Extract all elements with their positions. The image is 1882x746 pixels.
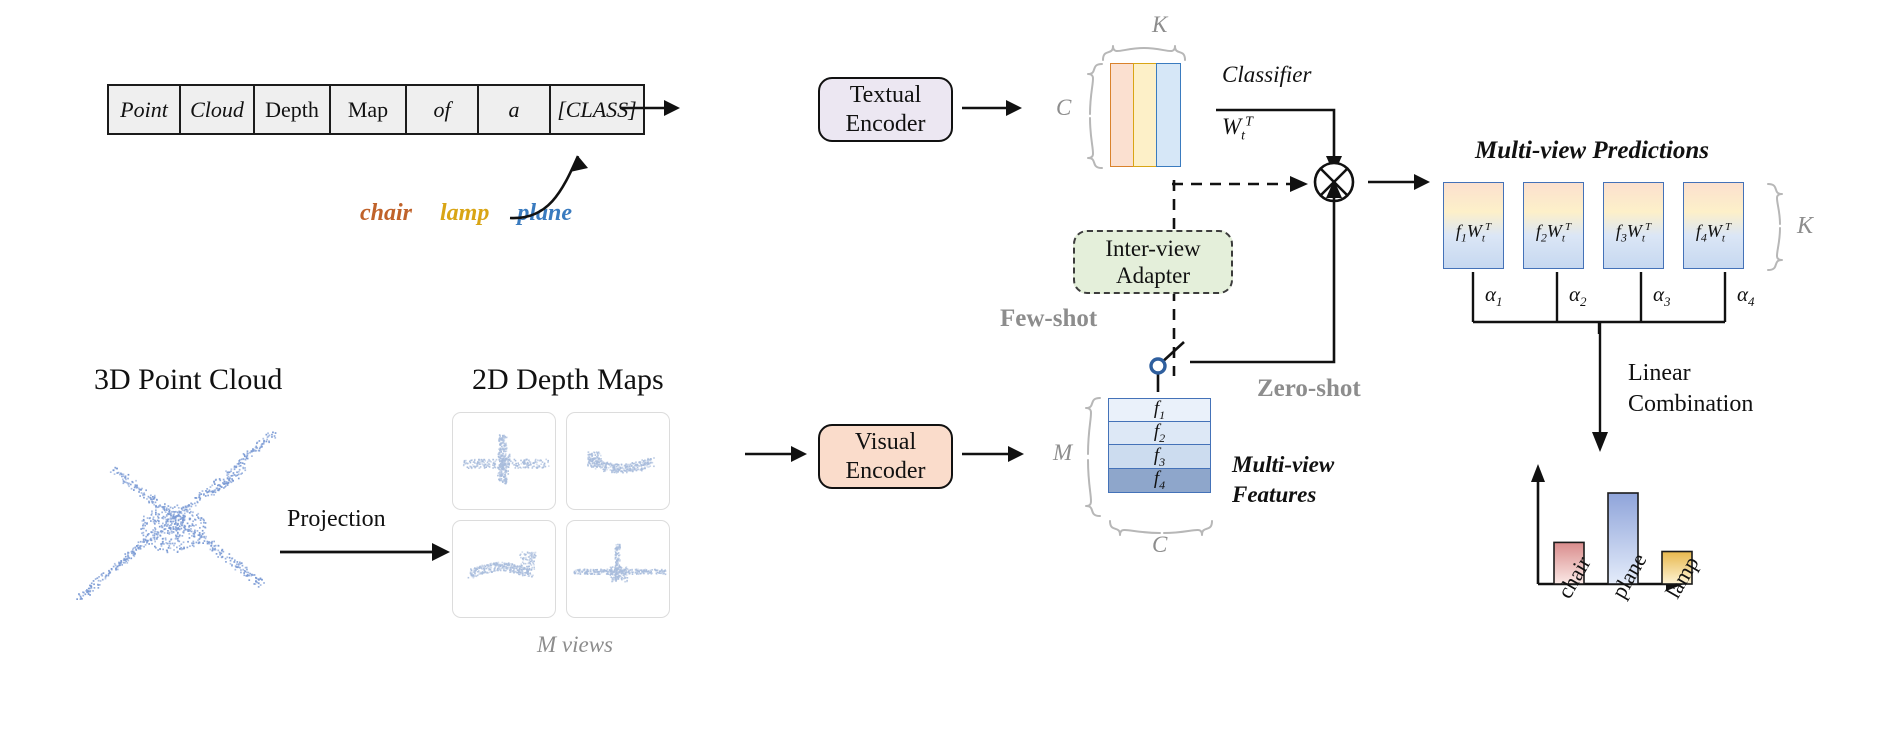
features-m-label: M: [1053, 440, 1072, 466]
classifier-weight-matrix: [1110, 63, 1181, 167]
multi-view-feature-stack: f1f2f3f4: [1108, 398, 1211, 493]
class-option-lamp[interactable]: lamp: [440, 200, 489, 227]
visual-encoder-box[interactable]: Visual Encoder: [818, 424, 953, 489]
adapter-line2: Adapter: [1105, 262, 1200, 289]
chart-x-tick-labels: chairplanelamp: [1510, 462, 1760, 622]
prompt-token-2[interactable]: Depth: [255, 86, 331, 133]
visual-encoder-line1: Visual: [846, 428, 926, 456]
classifier-column-1: [1133, 63, 1158, 167]
arrow-textual-encoder-to-classifier: [962, 96, 1022, 120]
prediction-box-3: f3WtT: [1603, 182, 1664, 269]
multi-view-prediction-boxes: f1WtTf2WtTf3WtTf4WtT: [1443, 182, 1744, 269]
multi-view-features-caption: Multi-view Features: [1232, 450, 1334, 510]
predictions-k-label: K: [1797, 213, 1813, 240]
arrow-linear-combination-to-chart: [1591, 322, 1611, 452]
classifier-c-label: C: [1056, 95, 1071, 121]
textual-encoder-line1: Textual: [846, 81, 926, 109]
class-to-token-curved-arrow: [500, 120, 630, 230]
arrow-projection: [280, 540, 450, 564]
alpha-weight-3: α3: [1653, 282, 1671, 310]
classifier-top-brace: [1101, 42, 1187, 62]
classifier-k-label: K: [1152, 12, 1167, 38]
alpha-weight-4: α4: [1737, 282, 1755, 310]
feature-bar-1: f1: [1108, 398, 1211, 423]
textual-encoder-box[interactable]: Textual Encoder: [818, 77, 953, 142]
adapter-line1: Inter-view: [1105, 235, 1200, 262]
classifier-column-2: [1156, 63, 1181, 167]
alpha-weight-1: α1: [1485, 282, 1503, 310]
visual-encoder-line2: Encoder: [846, 457, 926, 485]
predictions-right-brace: [1766, 182, 1788, 272]
depth-map-tile-side-view-left: [566, 412, 670, 510]
depth-map-tile-top-view: [452, 412, 556, 510]
linear-combination-line2: Combination: [1628, 389, 1753, 420]
feature-bar-3: f3: [1108, 444, 1211, 469]
classifier-title: Classifier: [1222, 62, 1311, 88]
alpha-weight-2: α2: [1569, 282, 1587, 310]
prediction-box-2: f2WtT: [1523, 182, 1584, 269]
class-option-chair[interactable]: chair: [360, 200, 412, 227]
depth-map-tile-side-view-right: [452, 520, 556, 618]
arrow-depthmaps-to-visual-encoder: [745, 442, 807, 466]
m-views-label: M views: [537, 632, 613, 658]
few-shot-label: Few-shot: [1000, 305, 1097, 333]
linear-combination-line1: Linear: [1628, 358, 1753, 389]
prediction-box-4: f4WtT: [1683, 182, 1744, 269]
arrow-operator-to-predictions: [1368, 170, 1430, 194]
depth-map-tile-front-view: [566, 520, 670, 618]
textual-encoder-line2: Encoder: [846, 110, 926, 138]
arrow-visual-encoder-to-features: [962, 442, 1024, 466]
prediction-box-1: f1WtT: [1443, 182, 1504, 269]
prompt-token-1[interactable]: Cloud: [181, 86, 255, 133]
mode-switch-icon[interactable]: [1140, 340, 1190, 396]
depth-map-grid: [452, 412, 670, 618]
feature-bar-4: f4: [1108, 468, 1211, 493]
features-caption-line2: Features: [1232, 480, 1334, 510]
features-left-brace: [1083, 396, 1103, 518]
chart-tick-chair: chair: [1552, 552, 1597, 603]
arrow-prompt-to-textual-encoder: [620, 96, 680, 120]
zero-shot-label: Zero-shot: [1257, 375, 1361, 403]
prompt-token-3[interactable]: Map: [331, 86, 407, 133]
feature-bar-2: f2: [1108, 421, 1211, 446]
features-c-label: C: [1152, 532, 1167, 558]
prompt-token-4[interactable]: of: [407, 86, 479, 133]
multi-view-predictions-title: Multi-view Predictions: [1475, 137, 1709, 165]
zero-shot-path: [1190, 180, 1346, 370]
classifier-left-brace: [1085, 62, 1105, 170]
features-caption-line1: Multi-view: [1232, 450, 1334, 480]
point-cloud-visualization: [60, 420, 290, 610]
classifier-column-0: [1110, 63, 1135, 167]
chart-tick-lamp: lamp: [1660, 552, 1705, 603]
chart-tick-plane: plane: [1606, 549, 1652, 603]
prompt-token-0[interactable]: Point: [109, 86, 181, 133]
projection-label: Projection: [287, 506, 386, 533]
depth-maps-title: 2D Depth Maps: [472, 363, 664, 397]
linear-combination-label: Linear Combination: [1628, 358, 1753, 419]
point-cloud-title: 3D Point Cloud: [94, 363, 282, 397]
